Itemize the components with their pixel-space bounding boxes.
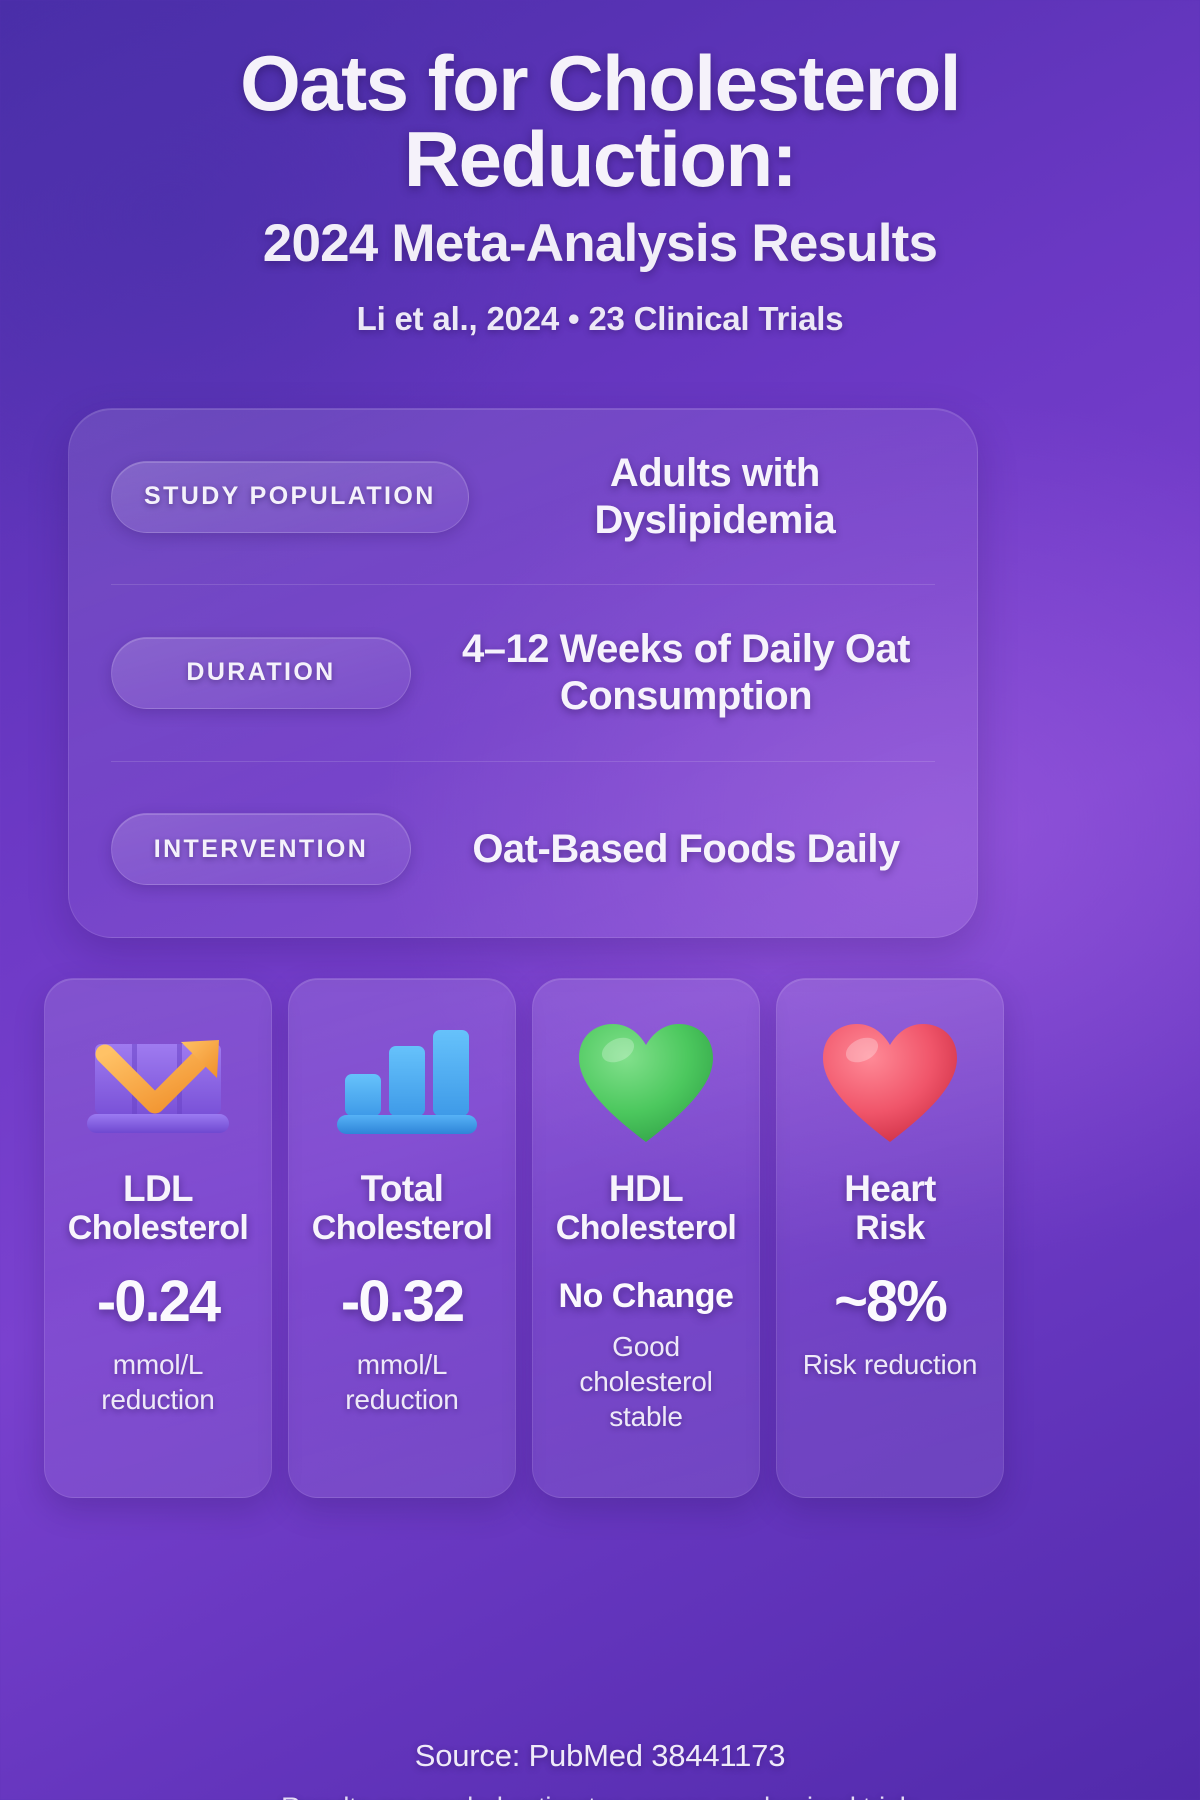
- stat-card-total: Total Cholesterol -0.32 mmol/L reduction: [288, 978, 516, 1498]
- stat-card-hdl: HDL Cholesterol No Change Good cholester…: [532, 978, 760, 1498]
- header: Oats for Cholesterol Reduction: 2024 Met…: [0, 0, 1200, 338]
- study-byline: Li et al., 2024 • 23 Clinical Trials: [0, 300, 1200, 338]
- info-row-duration: DURATION 4–12 Weeks of Daily Oat Consump…: [111, 584, 935, 760]
- stat-label-ldl: LDL Cholesterol: [68, 1169, 248, 1247]
- study-info-panel: STUDY POPULATION Adults with Dyslipidemi…: [68, 408, 978, 938]
- infographic-page: Oats for Cholesterol Reduction: 2024 Met…: [0, 0, 1200, 1800]
- info-label-study-population: STUDY POPULATION: [111, 461, 469, 533]
- stat-unit-heart-risk: Risk reduction: [803, 1347, 978, 1382]
- stat-label-total: Total Cholesterol: [312, 1169, 492, 1247]
- info-label-intervention: INTERVENTION: [111, 813, 411, 885]
- stat-value-heart-risk: ~8%: [834, 1273, 946, 1331]
- bar-chart-icon: [317, 1015, 487, 1151]
- stat-value-hdl: No Change: [559, 1279, 734, 1313]
- info-value-study-population: Adults with Dyslipidemia: [495, 450, 935, 544]
- stat-value-total: -0.32: [341, 1273, 463, 1331]
- page-subtitle: 2024 Meta-Analysis Results: [0, 213, 1200, 274]
- stat-unit-total: mmol/L reduction: [301, 1347, 503, 1417]
- info-value-intervention: Oat-Based Foods Daily: [437, 826, 935, 873]
- stat-card-row: LDL Cholesterol -0.24 mmol/L reduction: [44, 978, 1160, 1498]
- stat-label-heart-risk: Heart Risk: [844, 1169, 936, 1247]
- info-row-intervention: INTERVENTION Oat-Based Foods Daily: [111, 761, 935, 937]
- info-value-duration: 4–12 Weeks of Daily Oat Consumption: [437, 626, 935, 720]
- info-label-duration: DURATION: [111, 637, 411, 709]
- stat-unit-hdl: Good cholesterol stable: [545, 1329, 747, 1434]
- stat-unit-ldl: mmol/L reduction: [57, 1347, 259, 1417]
- red-heart-icon: [815, 1015, 965, 1151]
- source-note: Results are pooled estimates across rand…: [0, 1792, 1200, 1800]
- info-row-study-population: STUDY POPULATION Adults with Dyslipidemi…: [111, 409, 935, 584]
- green-heart-icon: [571, 1015, 721, 1151]
- line-chart-up-icon: [73, 1015, 243, 1151]
- stat-card-heart-risk: Heart Risk ~8% Risk reduction: [776, 978, 1004, 1498]
- stat-label-hdl: HDL Cholesterol: [556, 1169, 736, 1247]
- footer: Source: PubMed 38441173 Results are pool…: [0, 1738, 1200, 1800]
- stat-card-ldl: LDL Cholesterol -0.24 mmol/L reduction: [44, 978, 272, 1498]
- stat-value-ldl: -0.24: [97, 1273, 219, 1331]
- page-title: Oats for Cholesterol Reduction:: [0, 46, 1200, 197]
- source-citation: Source: PubMed 38441173: [0, 1738, 1200, 1774]
